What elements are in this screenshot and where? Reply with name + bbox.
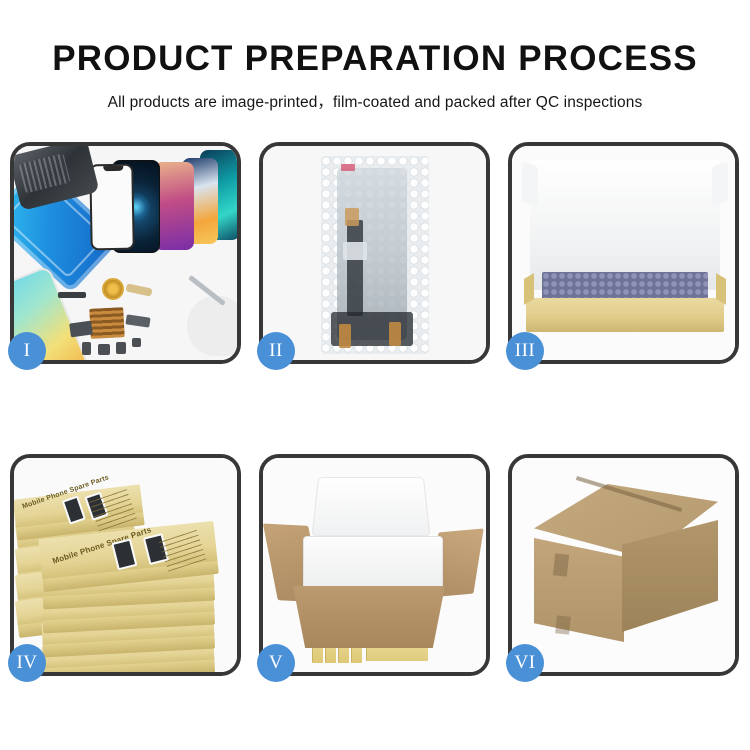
carton-tape-patch-icon-2 bbox=[555, 615, 571, 634]
step-badge-1: I bbox=[8, 332, 46, 370]
process-step-grid: I II bbox=[10, 142, 740, 676]
process-step-1: I bbox=[10, 142, 241, 364]
step-badge-3: III bbox=[506, 332, 544, 370]
copper-tape-icon-3 bbox=[389, 322, 401, 346]
step-badge-2: II bbox=[257, 332, 295, 370]
carton-with-foam-case-illustration bbox=[263, 458, 486, 672]
phone-screens-and-parts-illustration bbox=[14, 146, 237, 360]
process-step-5: V bbox=[259, 454, 490, 676]
page-subtitle: All products are image-printed，film-coat… bbox=[0, 76, 750, 112]
flex-cable-icon-2 bbox=[58, 292, 86, 298]
step-badge-4: IV bbox=[8, 644, 46, 682]
sealed-shipping-carton-illustration bbox=[512, 458, 735, 672]
step-1-image bbox=[14, 146, 237, 360]
step-5-image bbox=[263, 458, 486, 672]
copper-tape-icon-2 bbox=[339, 324, 351, 348]
step-3-image bbox=[512, 146, 735, 360]
foam-case-body-icon bbox=[303, 536, 443, 592]
small-part-icon-1 bbox=[82, 342, 91, 355]
product-preparation-infographic: PRODUCT PREPARATION PROCESS All products… bbox=[0, 0, 750, 750]
process-step-4: Mobile Phone Spare Parts bbox=[10, 454, 241, 676]
process-step-3: III bbox=[508, 142, 739, 364]
step-6-image bbox=[512, 458, 735, 672]
flex-cable-icon-1 bbox=[125, 283, 152, 296]
bubble-wrap-packing-illustration bbox=[263, 146, 486, 360]
purple-phone-icon bbox=[154, 162, 194, 250]
kraft-box-tray-icon bbox=[526, 298, 724, 332]
foam-lined-inner-box-illustration bbox=[512, 146, 735, 360]
small-part-icon-4 bbox=[132, 338, 141, 347]
lcd-connector-icon bbox=[343, 242, 367, 260]
carton-body-icon bbox=[293, 586, 445, 648]
phone-back-housing-icon bbox=[14, 146, 100, 211]
small-part-icon-2 bbox=[98, 344, 110, 355]
header: PRODUCT PREPARATION PROCESS All products… bbox=[0, 0, 750, 112]
step-4-image: Mobile Phone Spare Parts bbox=[14, 458, 237, 672]
speaker-coil-icon bbox=[102, 278, 124, 300]
step-badge-6: VI bbox=[506, 644, 544, 682]
copper-tape-icon-1 bbox=[345, 208, 359, 226]
carton-tape-patch-icon-1 bbox=[553, 553, 569, 576]
process-step-6: VI bbox=[508, 454, 739, 676]
small-part-icon-3 bbox=[116, 342, 126, 354]
step-badge-5: V bbox=[257, 644, 295, 682]
retail-box-rear-top: Mobile Phone Spare Parts bbox=[14, 484, 143, 529]
chip-grid-icon bbox=[89, 307, 125, 339]
pink-label-icon bbox=[341, 164, 355, 171]
box-print-screen-icon-3 bbox=[111, 538, 137, 570]
page-title: PRODUCT PREPARATION PROCESS bbox=[0, 0, 750, 76]
flex-cable-icon-4 bbox=[125, 314, 150, 327]
hand-icon bbox=[187, 296, 237, 356]
box-stack: Mobile Phone Spare Parts bbox=[14, 458, 237, 672]
carton-front-face-icon bbox=[534, 538, 624, 642]
white-box-lid-icon bbox=[530, 160, 720, 290]
bubble-wrap-bag-icon bbox=[321, 156, 429, 354]
process-step-2: II bbox=[259, 142, 490, 364]
stacked-retail-boxes-illustration: Mobile Phone Spare Parts bbox=[14, 458, 237, 672]
lcd-flex-cable-icon bbox=[347, 220, 363, 316]
foam-case-lid-icon bbox=[311, 477, 430, 536]
step-2-image bbox=[263, 146, 486, 360]
flex-cable-icon-3 bbox=[69, 321, 93, 338]
